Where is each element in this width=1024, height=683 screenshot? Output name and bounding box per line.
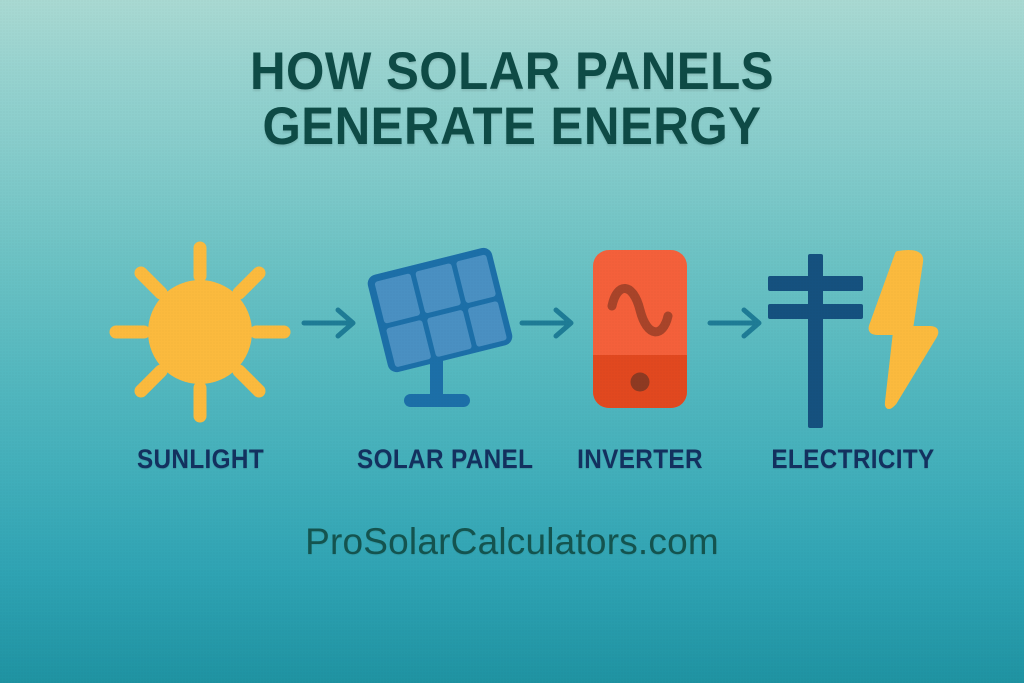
flow-stage-label-electricity: ELECTRICITY: [759, 444, 948, 475]
flow-stage-label-sunlight: SUNLIGHT: [90, 444, 311, 475]
lightning-bolt-shape: [872, 253, 936, 406]
flow-stage-solar-panel: [348, 232, 528, 432]
utility-pole-shape: [768, 254, 863, 428]
flow-stage-sunlight: [78, 232, 323, 432]
flow-stage-electricity: [748, 232, 958, 432]
sun-icon: [78, 232, 323, 432]
flow-stage-label-inverter: INVERTER: [573, 444, 708, 475]
page-title: HOW SOLAR PANELS GENERATE ENERGY: [0, 44, 1024, 154]
website-footer: ProSolarCalculators.com: [0, 521, 1024, 563]
title-line-1: HOW SOLAR PANELS: [36, 44, 988, 99]
title-line-2: GENERATE ENERGY: [36, 99, 988, 154]
inverter-icon: [565, 232, 715, 432]
infographic-canvas: HOW SOLAR PANELS GENERATE ENERGY: [0, 0, 1024, 683]
flow-stage-label-solar-panel: SOLAR PANEL: [357, 444, 519, 475]
solar-panel-icon: [348, 232, 528, 432]
flow-stage-inverter: [565, 232, 715, 432]
utility-pole-and-bolt-icon: [748, 232, 958, 432]
